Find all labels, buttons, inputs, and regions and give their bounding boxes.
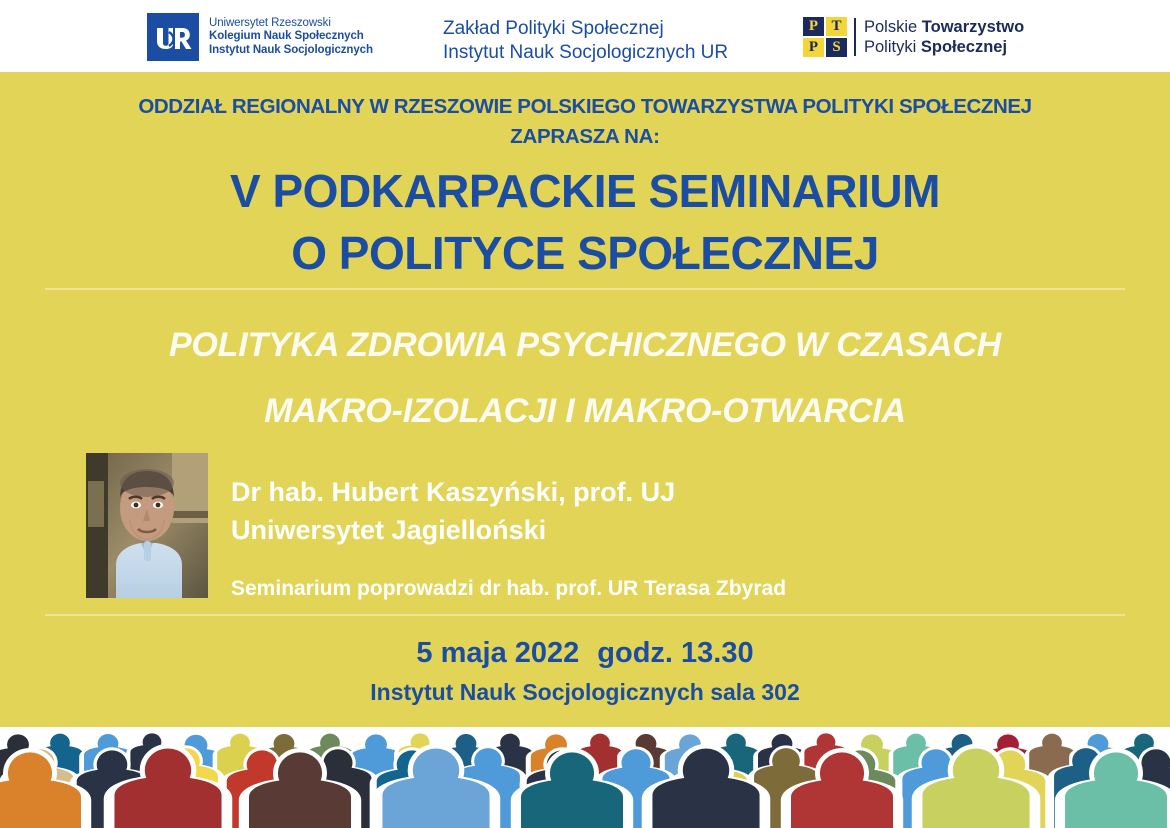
speaker-name: Dr hab. Hubert Kaszyński, prof. UJ Uniwe…	[231, 473, 675, 549]
ptps-text-line-2: Polityki Społecznej	[864, 37, 1024, 57]
invitation-line-2: ZAPRASZA NA:	[0, 122, 1170, 152]
bottom-yellow-strip	[0, 716, 1170, 727]
invitation-line-1: ODDZIAŁ REGIONALNY W RZESZOWIE POLSKIEGO…	[0, 92, 1170, 122]
event-date: 5 maja 2022	[416, 637, 579, 669]
ptps-l1-normal: Polskie	[864, 18, 922, 36]
seminar-subtitle-line-1: POLITYKA ZDROWIA PSYCHICZNEGO W CZASACH	[0, 312, 1170, 378]
department-name: Zakład Polityki Społecznej Instytut Nauk…	[443, 17, 728, 65]
ptps-logo-icon: P T P S	[803, 17, 847, 57]
ur-line-3: Instytut Nauk Socjologicznych	[209, 44, 373, 58]
ur-logo-group: Uniwersytet Rzeszowski Kolegium Nauk Spo…	[147, 13, 373, 61]
divider-bottom	[45, 614, 1125, 616]
ptps-l1-bold: Towarzystwo	[922, 18, 1024, 36]
speaker-portrait	[86, 453, 208, 598]
seminar-poster: Uniwersytet Rzeszowski Kolegium Nauk Spo…	[0, 0, 1170, 828]
ptps-l2-bold: Społecznej	[921, 38, 1007, 56]
seminar-subtitle-line-2: MAKRO-IZOLACJI I MAKRO-OTWARCIA	[0, 378, 1170, 444]
moderator-line: Seminarium poprowadzi dr hab. prof. UR T…	[231, 575, 786, 603]
speaker-name-line-1: Dr hab. Hubert Kaszyński, prof. UJ	[231, 473, 675, 511]
poster-body: ODDZIAŁ REGIONALNY W RZESZOWIE POLSKIEGO…	[0, 72, 1170, 716]
divider-top	[45, 288, 1125, 290]
ur-line-1: Uniwersytet Rzeszowski	[209, 17, 373, 31]
event-datetime: 5 maja 2022godz. 13.30	[0, 633, 1170, 673]
seminar-subtitle: POLITYKA ZDROWIA PSYCHICZNEGO W CZASACH …	[0, 312, 1170, 444]
header-bar: Uniwersytet Rzeszowski Kolegium Nauk Spo…	[0, 0, 1170, 72]
ptps-text-line-1: Polskie Towarzystwo	[864, 17, 1024, 37]
event-place: Instytut Nauk Socjologicznych sala 302	[0, 676, 1170, 708]
ptps-l2-normal: Polityki	[864, 38, 921, 56]
event-time: godz. 13.30	[597, 637, 753, 669]
ptps-logo-text: Polskie Towarzystwo Polityki Społecznej	[864, 17, 1024, 57]
department-line-2: Instytut Nauk Socjologicznych UR	[443, 41, 728, 65]
ur-line-2: Kolegium Nauk Społecznych	[209, 30, 373, 44]
seminar-title-line-2: O POLITYCE SPOŁECZNEJ	[0, 222, 1170, 284]
ptps-cell-p1: P	[803, 17, 824, 36]
ptps-cell-t: T	[826, 17, 847, 36]
ptps-logo-group: P T P S Polskie Towarzystwo Polityki Spo…	[803, 17, 1024, 57]
ur-logo-icon	[147, 13, 199, 61]
seminar-title: V PODKARPACKIE SEMINARIUM O POLITYCE SPO…	[0, 160, 1170, 284]
speaker-name-line-2: Uniwersytet Jagielloński	[231, 511, 675, 549]
ptps-divider	[854, 18, 856, 56]
seminar-title-line-1: V PODKARPACKIE SEMINARIUM	[0, 160, 1170, 222]
ptps-cell-p2: P	[803, 38, 824, 57]
department-line-1: Zakład Polityki Społecznej	[443, 17, 728, 41]
crowd-of-people-illustration	[0, 727, 1170, 828]
ur-logo-text: Uniwersytet Rzeszowski Kolegium Nauk Spo…	[209, 17, 373, 58]
ptps-cell-s: S	[826, 38, 847, 57]
